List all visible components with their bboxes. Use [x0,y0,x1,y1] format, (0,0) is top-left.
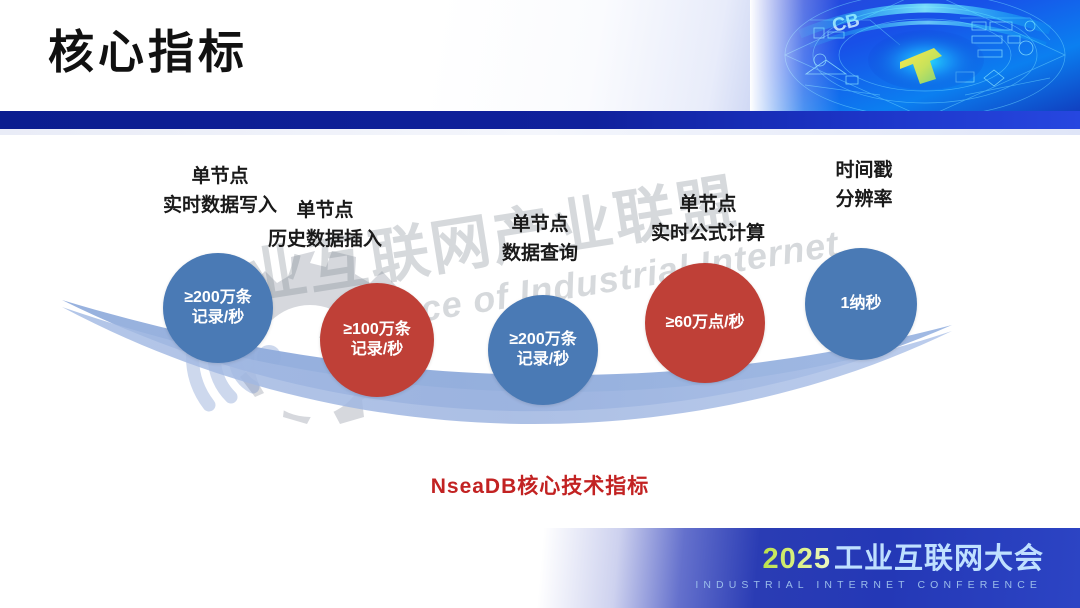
conference-logo: 2025工业互联网大会 INDUSTRIAL INTERNET CONFEREN… [695,542,1044,593]
conference-logo-main: 2025工业互联网大会 [695,542,1044,576]
conference-name-en: INDUSTRIAL INTERNET CONFERENCE [695,577,1044,593]
header-accent-band [0,111,1080,129]
tech-globe-graphic: CB [750,0,1080,111]
metric-circle-timestamp-resolution: 1纳秒 [805,248,917,360]
conference-name-cn: 工业互联网大会 [834,543,1044,575]
diagram-caption: NseaDB核心技术指标 [0,470,1080,500]
metric-circle-realtime-write: ≥200万条 记录/秒 [163,253,273,363]
metric-label-realtime-formula: 单节点 实时公式计算 [615,191,801,249]
slide-header: CB 核心指标 [0,0,1080,111]
metric-circle-history-insert: ≥100万条 记录/秒 [320,283,434,397]
metric-label-timestamp-resolution: 时间戳 分辨率 [780,157,948,215]
conference-year: 2025 [762,543,831,575]
slide: CB 核心指标 [0,0,1080,608]
metric-circle-data-query: ≥200万条 记录/秒 [488,295,598,405]
metric-label-data-query: 单节点 数据查询 [455,211,625,269]
metric-label-history-insert: 单节点 历史数据插入 [235,197,415,255]
page-title: 核心指标 [48,22,248,82]
metric-circle-realtime-formula: ≥60万点/秒 [645,263,765,383]
